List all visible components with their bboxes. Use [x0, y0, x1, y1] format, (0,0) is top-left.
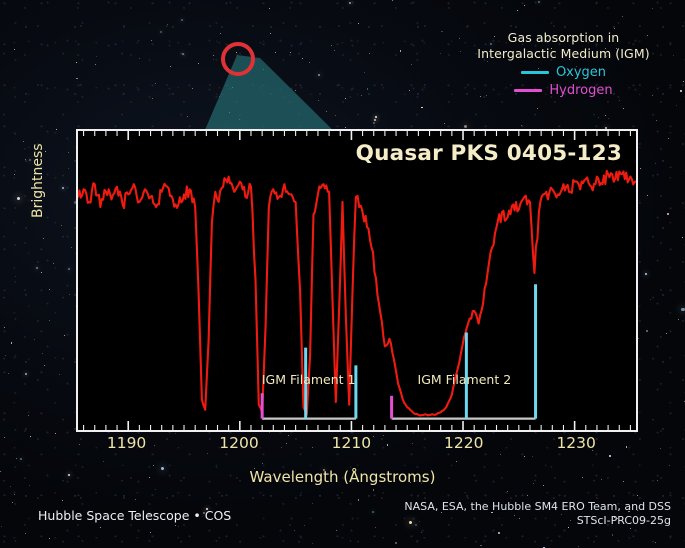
- spectrum-canvas: [78, 131, 636, 430]
- legend-label-oxygen: Oxygen: [556, 65, 606, 80]
- filament-label-2: IGM Filament 2: [418, 372, 512, 387]
- figure-root: Gas absorption in Intergalactic Medium (…: [0, 0, 685, 548]
- x-tick-1200: 1200: [219, 434, 258, 452]
- legend-heading-line2: Intergalactic Medium (IGM): [456, 46, 671, 62]
- legend-swatch-hydrogen: [514, 89, 542, 92]
- x-tick-1210: 1210: [332, 434, 371, 452]
- y-axis-label: Brightness: [30, 143, 46, 218]
- x-tick-1230: 1230: [556, 434, 595, 452]
- legend-label-hydrogen: Hydrogen: [549, 83, 612, 98]
- x-tick-1190: 1190: [107, 434, 146, 452]
- credit-line-2: STScI-PRC09-25g: [404, 514, 671, 528]
- legend-item-oxygen: Oxygen: [456, 65, 671, 80]
- legend: Gas absorption in Intergalactic Medium (…: [456, 30, 671, 98]
- x-axis-tick-labels: 11901200121012201230: [0, 434, 685, 458]
- observatory-caption: Hubble Space Telescope • COS: [38, 508, 231, 523]
- spectrum-plot: Quasar PKS 0405-123: [76, 129, 638, 432]
- x-tick-1220: 1220: [444, 434, 483, 452]
- credits: NASA, ESA, the Hubble SM4 ERO Team, and …: [404, 500, 671, 528]
- credit-line-1: NASA, ESA, the Hubble SM4 ERO Team, and …: [404, 500, 671, 514]
- x-axis-label: Wavelength (Ångstroms): [0, 468, 685, 486]
- plot-title: Quasar PKS 0405-123: [356, 141, 622, 166]
- legend-item-hydrogen: Hydrogen: [456, 83, 671, 98]
- quasar-highlight-circle: [221, 42, 255, 76]
- legend-swatch-oxygen: [521, 71, 549, 74]
- legend-heading-line1: Gas absorption in: [456, 30, 671, 46]
- filament-label-1: IGM Filament 1: [262, 372, 356, 387]
